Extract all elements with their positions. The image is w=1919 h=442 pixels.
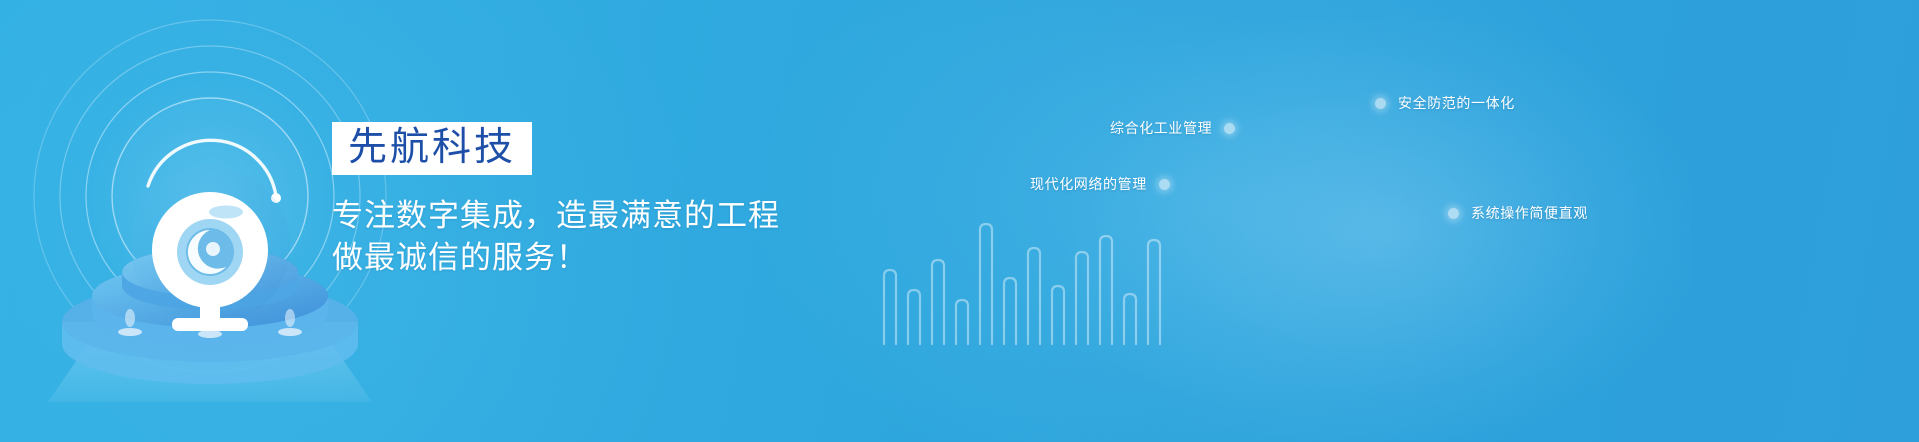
hero-subtitle-line-1: 专注数字集成，造最满意的工程 (332, 195, 892, 237)
hero-subtitle-line-2: 做最诚信的服务！ (332, 237, 892, 279)
hero-banner: 先航科技 专注数字集成，造最满意的工程 做最诚信的服务！ 安全防范的一体化 综合… (0, 0, 1919, 442)
feature-label-industrial-management: 综合化工业管理 (1110, 118, 1235, 138)
feature-label-text: 综合化工业管理 (1110, 120, 1212, 136)
brand-title-box: 先航科技 (332, 122, 532, 175)
hero-subtitle: 专注数字集成，造最满意的工程 做最诚信的服务！ (332, 195, 892, 279)
brand-title: 先航科技 (348, 126, 516, 169)
bullet-dot-icon (1224, 123, 1235, 134)
waveform-icon (880, 196, 1170, 346)
feature-label-security-integration: 安全防范的一体化 (1375, 93, 1515, 113)
feature-label-network-management: 现代化网络的管理 (1030, 174, 1170, 194)
feature-label-text: 现代化网络的管理 (1030, 176, 1147, 192)
bullet-dot-icon (1375, 98, 1386, 109)
feature-label-simple-operation: 系统操作简便直观 (1448, 203, 1588, 223)
feature-label-text: 系统操作简便直观 (1471, 205, 1588, 221)
bullet-dot-icon (1448, 208, 1459, 219)
bullet-dot-icon (1159, 179, 1170, 190)
hero-text-block: 先航科技 专注数字集成，造最满意的工程 做最诚信的服务！ (332, 122, 892, 279)
feature-label-text: 安全防范的一体化 (1398, 95, 1515, 111)
ambient-glow-right (1070, 20, 1690, 440)
